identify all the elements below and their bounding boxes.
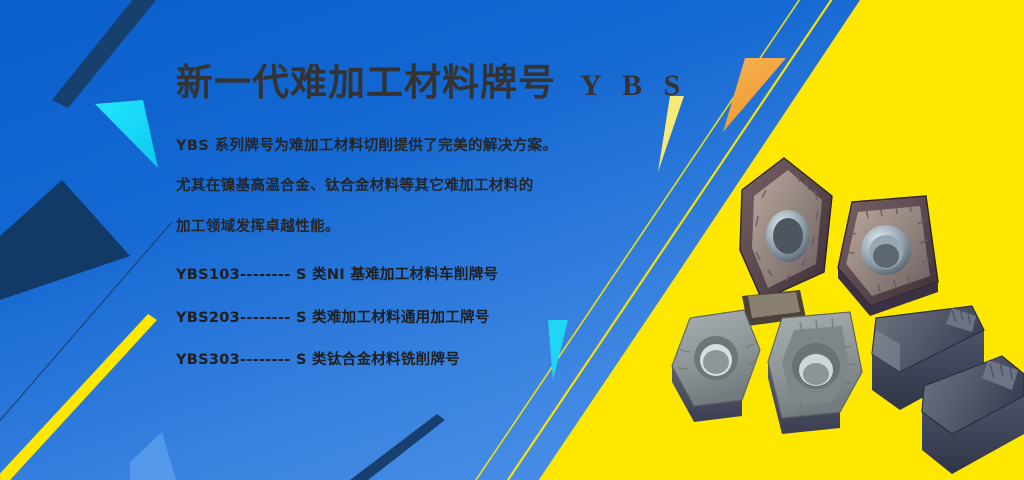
milling-insert-square-hole — [768, 312, 862, 434]
brand-name: Y B S — [580, 69, 687, 103]
description-line: YBS 系列牌号为难加工材料切削提供了完美的解决方案。 — [176, 139, 646, 154]
page-title: 新一代难加工材料牌号 — [176, 62, 556, 105]
description-line: 尤其在镍基高温合金、钛合金材料等其它难加工材料的 — [176, 179, 646, 194]
product-grade-item: YBS303-------- S 类钛合金材料铣削牌号 — [176, 353, 646, 368]
rhombic-insert-cnmg — [838, 196, 938, 316]
product-grade-item: YBS103-------- S 类NI 基难加工材料车削牌号 — [176, 268, 646, 283]
banner-copy: 新一代难加工材料牌号 Y B S YBS 系列牌号为难加工材料切削提供了完美的解… — [176, 62, 646, 396]
product-grade-list: YBS103-------- S 类NI 基难加工材料车削牌号 YBS203--… — [176, 268, 646, 368]
banner-title: 新一代难加工材料牌号 Y B S — [176, 62, 646, 105]
promo-banner: 新一代难加工材料牌号 Y B S YBS 系列牌号为难加工材料切削提供了完美的解… — [0, 0, 1024, 480]
description-block: YBS 系列牌号为难加工材料切削提供了完美的解决方案。 尤其在镍基高温合金、钛合… — [176, 139, 646, 235]
trigon-insert-wnmg — [740, 158, 832, 300]
description-line: 加工领域发挥卓越性能。 — [176, 220, 646, 235]
product-grade-item: YBS203-------- S 类难加工材料通用加工牌号 — [176, 311, 646, 326]
milling-insert-round-hole — [672, 310, 760, 422]
